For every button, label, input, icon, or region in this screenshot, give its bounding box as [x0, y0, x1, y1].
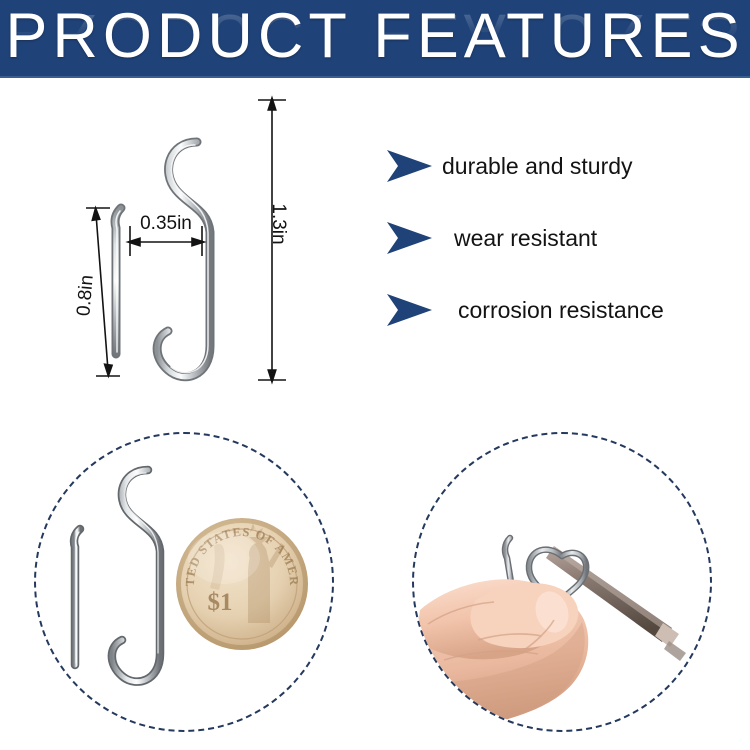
arrow-bullet-icon [386, 149, 432, 183]
feature-label: durable and sturdy [442, 153, 633, 180]
page-title: PRODUCT FEATURES [0, 5, 750, 67]
hook-photo [74, 470, 160, 682]
header-banner: PRODUCT FEATURES PRODUCT FEATURES [0, 0, 750, 78]
feature-item-corrosion-resistance: corrosion resistance [386, 274, 736, 346]
feature-label: corrosion resistance [458, 297, 664, 324]
hook-in-hand-panel [412, 432, 712, 732]
feature-item-wear-resistant: wear resistant [386, 202, 736, 274]
hook-illustration [115, 142, 210, 377]
hand [414, 579, 588, 730]
size-comparison-panel: UNITED STATES OF AMERICA $1 [34, 432, 334, 732]
coin-denomination: $1 [208, 589, 233, 616]
arrow-bullet-icon [386, 221, 432, 255]
feature-item-durable-and-sturdy: durable and sturdy [386, 130, 736, 202]
dimension-label-height-total: 1.3in [268, 203, 289, 244]
dimension-label-height-short: 0.8in [73, 274, 98, 317]
feature-list: durable and sturdy wear resistant corros… [386, 130, 736, 346]
spec-diagram: 1.3in 0.8in 0.35in [58, 84, 388, 404]
arrow-bullet-icon [386, 293, 432, 327]
dimension-label-width: 0.35in [140, 213, 192, 234]
feature-label: wear resistant [454, 225, 597, 252]
